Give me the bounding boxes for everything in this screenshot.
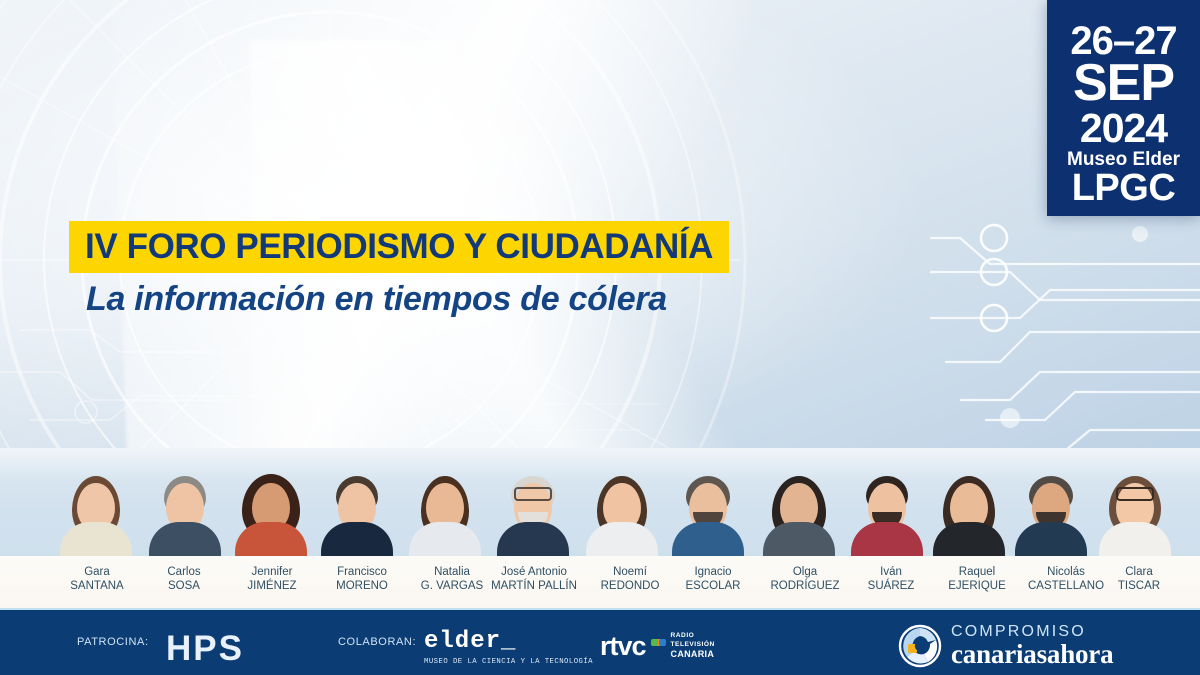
- speaker-name: CarlosSOSA: [143, 565, 225, 593]
- speaker-name: IvánSUÁREZ: [849, 565, 933, 593]
- event-title: IV FORO PERIODISMO Y CIUDADANÍA: [85, 227, 713, 267]
- speaker-name: OlgaRODRÍGUEZ: [757, 565, 853, 593]
- date-badge: 26–27 SEP 2024 Museo Elder LPGC: [1047, 0, 1200, 216]
- speaker-names-band: GaraSANTANA CarlosSOSA JenniferJIMÉNEZ F…: [0, 556, 1200, 610]
- speaker-name: RaquelEJERIQUE: [929, 565, 1025, 593]
- speaker-name: NoemíREDONDO: [588, 565, 672, 593]
- speaker-name: GaraSANTANA: [56, 565, 138, 593]
- canariasahora-wordmark: canariasahora: [951, 640, 1113, 668]
- elder-logo-name: elder_: [424, 630, 593, 654]
- speaker-portrait: [1012, 456, 1090, 556]
- date-month: SEP: [1047, 60, 1200, 108]
- speaker-name: FranciscoMORENO: [316, 565, 408, 593]
- event-subtitle: La información en tiempos de cólera: [86, 280, 667, 319]
- glasses-icon: [1116, 487, 1154, 501]
- glasses-icon: [514, 487, 552, 501]
- speaker-portrait: [583, 456, 661, 556]
- speaker-portrait: [1096, 456, 1174, 556]
- globe-puzzle-icon: [898, 624, 942, 668]
- elder-logo-tagline: MUSEO DE LA CIENCIA Y LA TECNOLOGÍA: [424, 658, 593, 666]
- date-year: 2024: [1047, 108, 1200, 148]
- rtvc-line-3: CANARIA: [671, 649, 715, 661]
- event-poster: 26–27 SEP 2024 Museo Elder LPGC IV FORO …: [0, 0, 1200, 675]
- rtvc-dots-icon: [651, 639, 666, 654]
- collaborators-label: COLABORAN:: [338, 636, 416, 648]
- speaker-portrait: [930, 456, 1008, 556]
- speaker-portrait: [57, 456, 135, 556]
- speaker-photo-strip: [0, 448, 1200, 556]
- event-title-band: IV FORO PERIODISMO Y CIUDADANÍA: [69, 221, 729, 273]
- speaker-portrait: [494, 456, 572, 556]
- hps-logo[interactable]: HPS: [166, 629, 244, 669]
- rtvc-line-1: RADIO: [671, 632, 695, 639]
- speaker-name: ClaraTISCAR: [1097, 565, 1181, 593]
- speaker-name: José AntonioMARTÍN PALLÍN: [471, 565, 597, 593]
- speaker-name: JenniferJIMÉNEZ: [229, 565, 315, 593]
- rtvc-line-2: TELEVISIÓN: [671, 641, 715, 648]
- compromiso-canariasahora-logo[interactable]: COMPROMISO canariasahora: [898, 624, 1113, 668]
- date-city: LPGC: [1047, 170, 1200, 207]
- speaker-portrait: [146, 456, 224, 556]
- speaker-name: IgnacioESCOLAR: [670, 565, 756, 593]
- rtvc-logo-subtitle: RADIO TELEVISIÓN CANARIA: [671, 632, 715, 661]
- elder-museum-logo[interactable]: elder_ MUSEO DE LA CIENCIA Y LA TECNOLOG…: [424, 630, 593, 666]
- sponsor-label: PATROCINA:: [77, 636, 149, 648]
- speaker-portrait: [318, 456, 396, 556]
- speaker-portrait: [760, 456, 838, 556]
- rtvc-logo[interactable]: rtvc RADIO TELEVISIÓN CANARIA: [600, 632, 715, 661]
- speaker-portrait: [848, 456, 926, 556]
- speaker-portrait: [669, 456, 747, 556]
- rtvc-logo-name: rtvc: [600, 633, 646, 660]
- compromiso-top-text: COMPROMISO: [951, 624, 1113, 640]
- speaker-portrait: [406, 456, 484, 556]
- sponsors-footer: PATROCINA: HPS COLABORAN: elder_ MUSEO D…: [0, 610, 1200, 675]
- speaker-portrait: [232, 456, 310, 556]
